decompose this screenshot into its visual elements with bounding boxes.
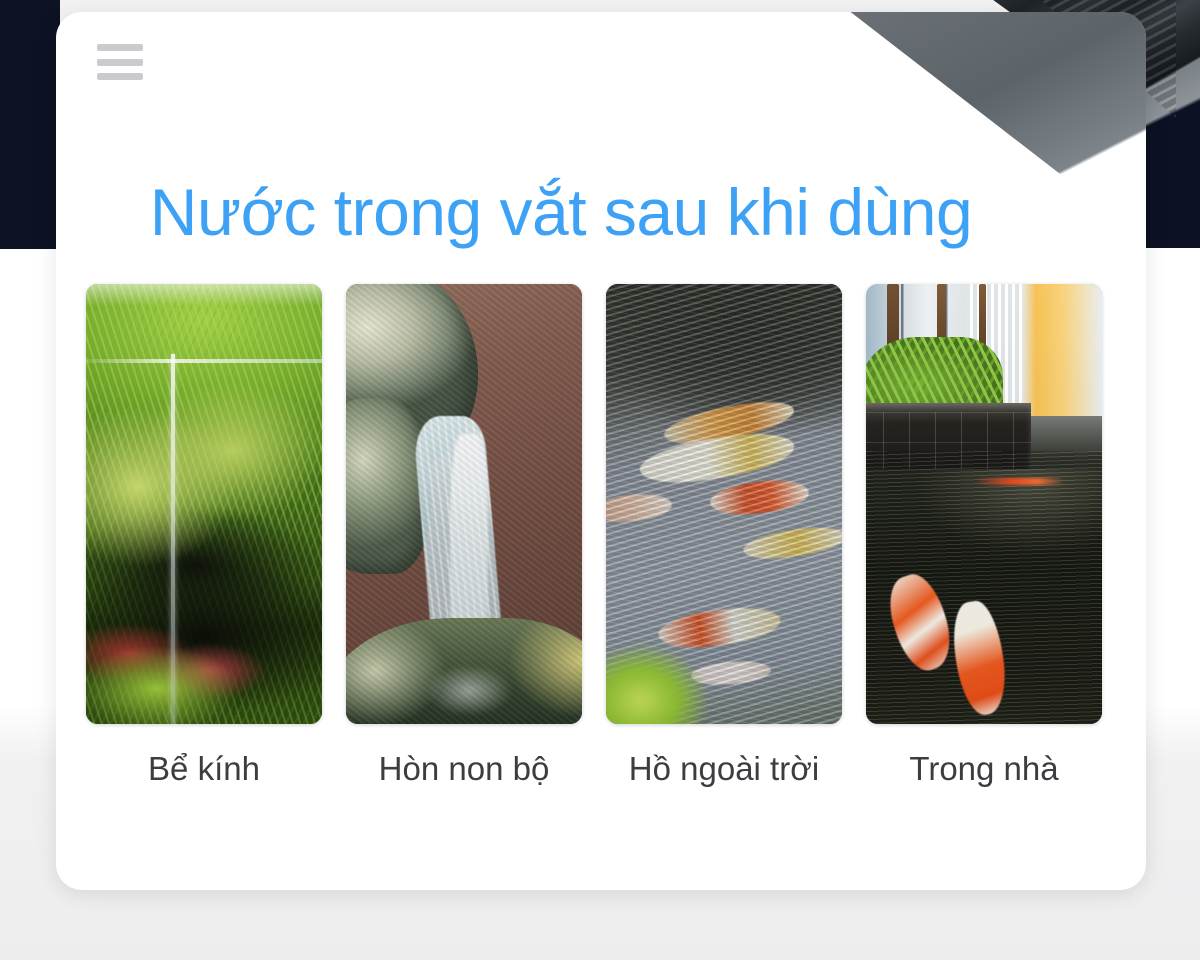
hamburger-bar-3 <box>97 73 143 80</box>
thumbnail-image-glass-tank[interactable] <box>86 284 322 724</box>
indoor-pond-reflection <box>975 478 1065 485</box>
hamburger-bar-1 <box>97 44 143 51</box>
gallery-item-be-kinh[interactable]: Bể kính <box>86 284 322 788</box>
gallery-item-hon-non-bo[interactable]: Hòn non bộ <box>346 284 582 788</box>
hamburger-bar-2 <box>97 59 143 66</box>
thumbnail-image-rockery-waterfall[interactable] <box>346 284 582 724</box>
outdoor-pond-foliage <box>606 627 729 724</box>
app-card: Nước trong vắt sau khi dùng Bể kính <box>56 12 1146 890</box>
hamburger-menu-icon[interactable] <box>97 44 143 80</box>
thumbnail-image-indoor-koi-pond[interactable] <box>866 284 1102 724</box>
glass-tank-top-rim <box>86 284 322 306</box>
page-title: Nước trong vắt sau khi dùng <box>56 174 1066 250</box>
thumbnail-image-outdoor-koi-pond[interactable] <box>606 284 842 724</box>
gallery-caption: Trong nhà <box>909 750 1058 788</box>
glass-tank-edge-horizontal <box>86 359 322 363</box>
gallery-item-ho-ngoai-troi[interactable]: Hồ ngoài trời <box>606 284 842 788</box>
gallery-caption: Hòn non bộ <box>379 750 550 788</box>
top-bar <box>56 12 1146 116</box>
gallery-caption: Hồ ngoài trời <box>629 750 819 788</box>
glass-tank-foreground-plants <box>86 284 322 724</box>
glass-tank-edge-vertical <box>171 354 175 724</box>
rockery-stone-texture <box>346 284 582 724</box>
device-bezel-left <box>0 0 60 249</box>
gallery-item-trong-nha[interactable]: Trong nhà <box>866 284 1102 788</box>
gallery: Bể kính Hòn non bộ <box>86 284 1126 788</box>
gallery-caption: Bể kính <box>148 750 260 788</box>
